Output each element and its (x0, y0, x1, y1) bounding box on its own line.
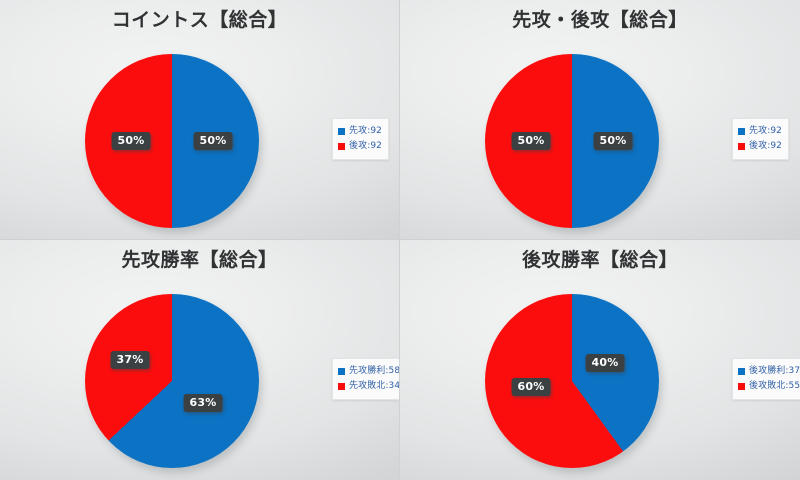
legend-swatch-icon (338, 368, 345, 375)
legend-label: 先攻:92 (349, 126, 382, 137)
slice-label: 40% (586, 354, 625, 372)
chart-panel-second-win-rate-total: 後攻勝率【総合】 40% 60% 後攻勝利:37 後攻敗北:55 (400, 240, 800, 480)
chart-title: 先攻勝率【総合】 (0, 246, 399, 274)
chart-title: コイントス【総合】 (0, 6, 399, 34)
legend-label: 後攻勝利:37 (749, 366, 800, 377)
legend-label: 後攻:92 (349, 141, 382, 152)
chart-panel-coin-toss-total: コイントス【総合】 50% 50% 先攻:92 後攻:92 (0, 0, 400, 240)
legend-label: 先攻:92 (749, 126, 782, 137)
slice-label: 63% (184, 394, 223, 412)
chart-panel-first-second-total: 先攻・後攻【総合】 50% 50% 先攻:92 後攻:92 (400, 0, 800, 240)
legend-label: 先攻勝利:58 (349, 366, 400, 377)
legend-label: 後攻:92 (749, 141, 782, 152)
slice-label: 50% (112, 132, 151, 150)
legend-item[interactable]: 先攻:92 (338, 124, 382, 139)
slice-label: 50% (594, 132, 633, 150)
legend-item[interactable]: 先攻敗北:34 (338, 379, 400, 394)
legend-swatch-icon (738, 368, 745, 375)
slice-label: 50% (194, 132, 233, 150)
chart-legend: 先攻:92 後攻:92 (332, 118, 389, 160)
chart-legend: 先攻:92 後攻:92 (732, 118, 789, 160)
legend-item[interactable]: 後攻:92 (338, 139, 382, 154)
legend-swatch-icon (738, 128, 745, 135)
legend-label: 後攻敗北:55 (749, 381, 800, 392)
legend-swatch-icon (738, 383, 745, 390)
pie-chart-first-second-total: 50% 50% (485, 54, 659, 228)
legend-item[interactable]: 後攻敗北:55 (738, 379, 800, 394)
legend-swatch-icon (338, 143, 345, 150)
chart-legend: 後攻勝利:37 後攻敗北:55 (732, 358, 800, 400)
legend-swatch-icon (738, 143, 745, 150)
chart-panel-first-win-rate-total: 先攻勝率【総合】 63% 37% 先攻勝利:58 先攻敗北:34 (0, 240, 400, 480)
chart-legend: 先攻勝利:58 先攻敗北:34 (332, 358, 400, 400)
pie-slices[interactable] (85, 294, 259, 468)
legend-item[interactable]: 後攻:92 (738, 139, 782, 154)
legend-item[interactable]: 後攻勝利:37 (738, 364, 800, 379)
chart-title: 後攻勝率【総合】 (400, 246, 800, 274)
pie-chart-coin-toss-total: 50% 50% (85, 54, 259, 228)
slice-label: 50% (512, 132, 551, 150)
chart-title: 先攻・後攻【総合】 (400, 6, 800, 34)
pie-chart-second-win-rate-total: 40% 60% (485, 294, 659, 468)
legend-swatch-icon (338, 383, 345, 390)
dashboard-grid: コイントス【総合】 50% 50% 先攻:92 後攻:92 先攻・後攻【総合】 … (0, 0, 800, 480)
legend-swatch-icon (338, 128, 345, 135)
legend-item[interactable]: 先攻:92 (738, 124, 782, 139)
slice-label: 60% (512, 378, 551, 396)
legend-item[interactable]: 先攻勝利:58 (338, 364, 400, 379)
legend-label: 先攻敗北:34 (349, 381, 400, 392)
slice-label: 37% (111, 351, 150, 369)
pie-chart-first-win-rate-total: 63% 37% (85, 294, 259, 468)
